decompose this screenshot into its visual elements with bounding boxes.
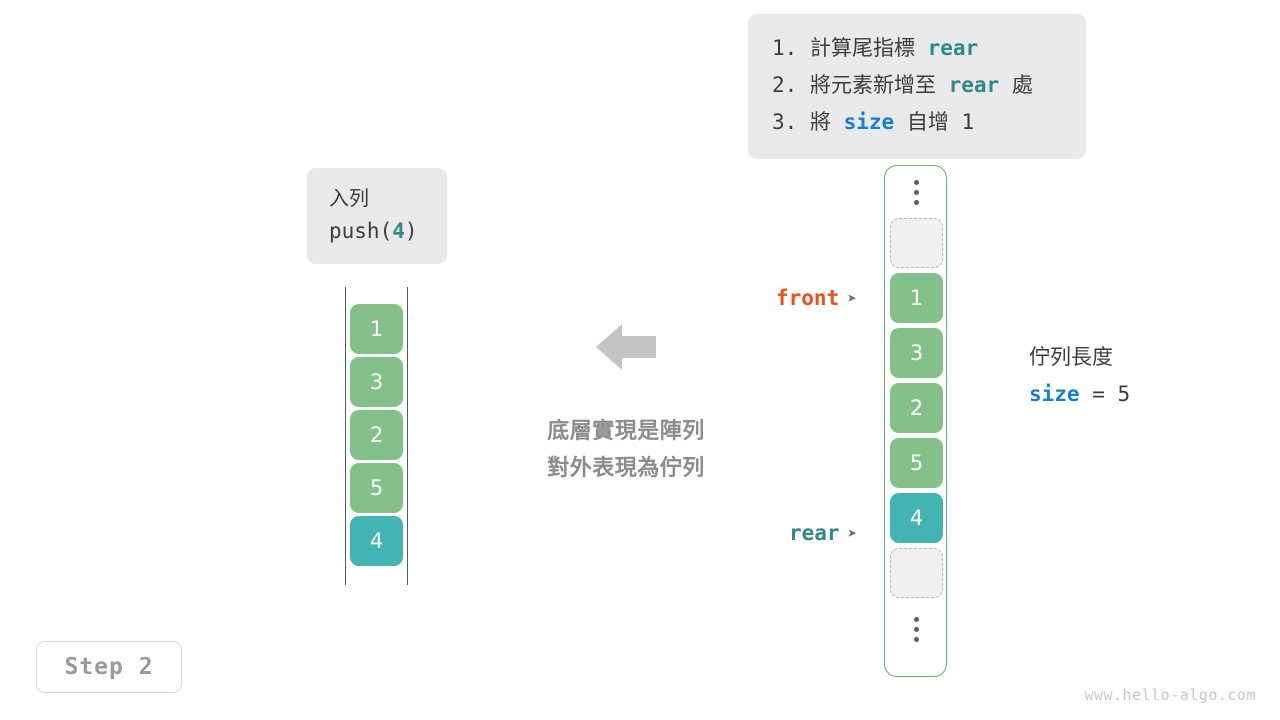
queue-cell: 1	[350, 304, 403, 354]
array-cell: 1	[890, 273, 943, 323]
array-cells: 1 3 2 5 4	[888, 166, 945, 655]
step-badge-label: Step 2	[64, 654, 153, 680]
queue-rail-left	[345, 287, 346, 585]
queue-rail-right	[407, 287, 408, 585]
instruction-step-2: 2. 將元素新增至 rear 處	[748, 67, 1086, 104]
instruction-step-2-number: 2.	[772, 73, 797, 97]
instruction-step-3-number: 3.	[772, 110, 797, 134]
pointer-caret-icon: ➤	[847, 289, 857, 308]
array-cell-empty	[890, 548, 943, 598]
center-caption-line-1: 底層實現是陣列	[528, 413, 724, 450]
vertical-ellipsis-icon-bottom	[888, 603, 945, 655]
watermark: www.hello-algo.com	[1084, 686, 1256, 704]
array-cell-empty	[890, 218, 943, 268]
center-caption-line-2: 對外表現為佇列	[528, 450, 724, 487]
pointer-caret-icon: ➤	[848, 524, 858, 543]
operation-code-prefix: push(	[329, 219, 392, 243]
instruction-step-2-prefix: 將元素新增至	[810, 73, 949, 97]
front-pointer-text: front	[776, 286, 839, 310]
queue-cell: 2	[350, 410, 403, 460]
queue-cell: 3	[350, 357, 403, 407]
front-pointer-label: front ➤	[776, 286, 857, 310]
operation-code: push(4)	[307, 215, 447, 248]
array-cell: 3	[890, 328, 943, 378]
instruction-step-3-suffix: 自增 1	[894, 110, 974, 134]
left-arrow-icon	[596, 322, 656, 372]
instruction-step-1-number: 1.	[772, 36, 797, 60]
array-container: 1 3 2 5 4	[884, 165, 947, 677]
instruction-step-3-keyword: size	[844, 110, 895, 134]
size-equals: =	[1080, 382, 1118, 406]
size-annotation-value: size = 5	[1029, 378, 1130, 411]
abstract-queue: 1 3 2 5 4	[345, 287, 408, 585]
step-badge: Step 2	[36, 641, 182, 693]
instruction-panel: 1. 計算尾指標 rear 2. 將元素新增至 rear 處 3. 將 size…	[748, 14, 1086, 159]
instruction-step-3-prefix: 將	[810, 110, 844, 134]
array-cell: 2	[890, 383, 943, 433]
array-cell: 5	[890, 438, 943, 488]
vertical-ellipsis-icon-top	[888, 166, 945, 218]
queue-cell-highlight: 4	[350, 516, 403, 566]
instruction-step-1-keyword: rear	[928, 36, 979, 60]
rear-pointer-text: rear	[789, 521, 840, 545]
instruction-step-1-prefix: 計算尾指標	[810, 36, 928, 60]
instruction-step-2-keyword: rear	[949, 73, 1000, 97]
rear-pointer-label: rear ➤	[789, 521, 857, 545]
center-caption: 底層實現是陣列 對外表現為佇列	[528, 413, 724, 487]
operation-code-argument: 4	[392, 219, 405, 243]
array-cell-highlight: 4	[890, 493, 943, 543]
size-annotation: 佇列長度 size = 5	[1029, 341, 1130, 411]
abstract-queue-cells: 1 3 2 5 4	[350, 304, 403, 569]
size-number: 5	[1118, 382, 1131, 406]
operation-title: 入列	[307, 182, 447, 215]
queue-cell: 5	[350, 463, 403, 513]
instruction-step-3: 3. 將 size 自增 1	[748, 104, 1086, 141]
operation-code-suffix: )	[405, 219, 418, 243]
instruction-step-1: 1. 計算尾指標 rear	[748, 30, 1086, 67]
instruction-step-2-suffix: 處	[999, 73, 1033, 97]
size-annotation-title: 佇列長度	[1029, 341, 1130, 374]
size-keyword: size	[1029, 382, 1080, 406]
operation-box: 入列 push(4)	[307, 168, 447, 264]
